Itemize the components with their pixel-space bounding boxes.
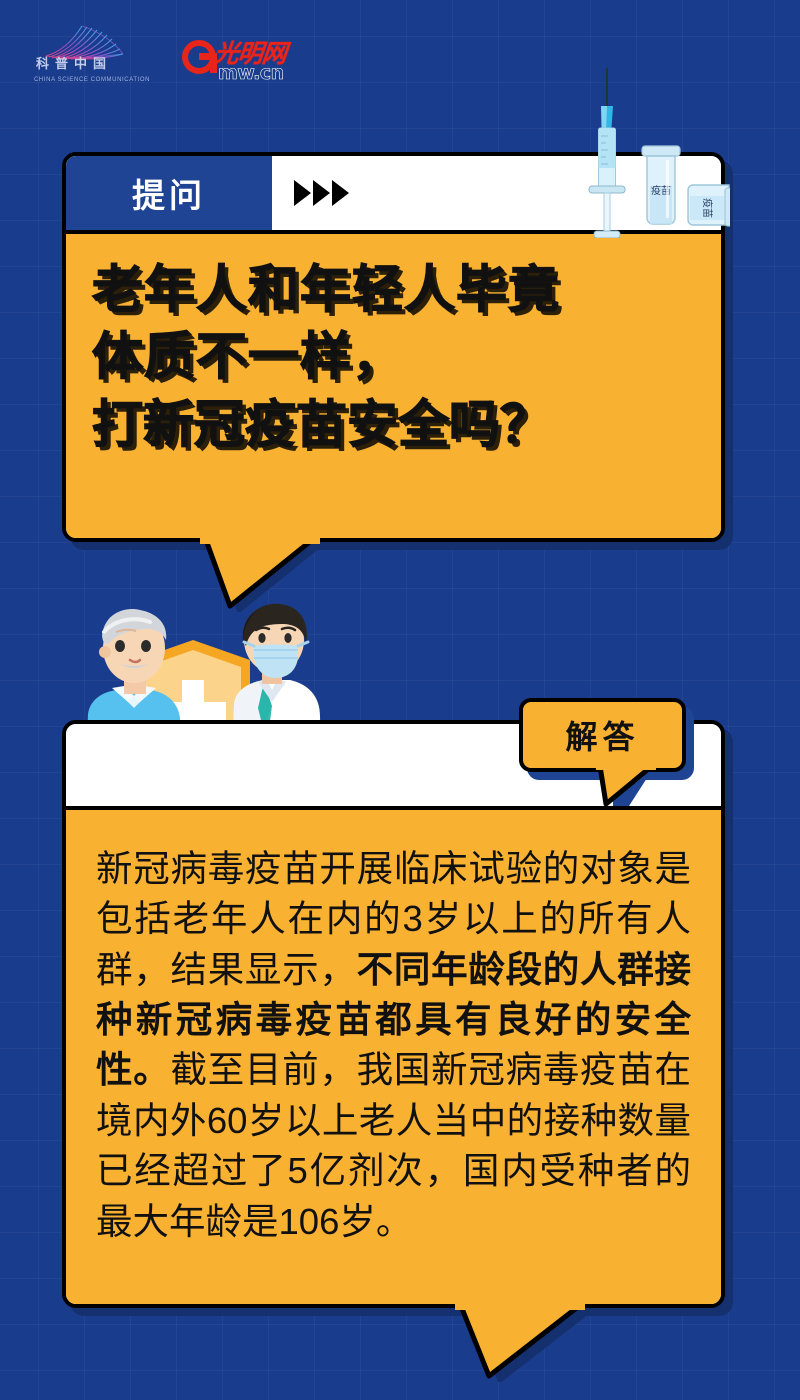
answer-text: 新冠病毒疫苗开展临床试验的对象是包括老年人在内的3岁以上的所有人群，结果显示，不… [96, 844, 691, 1247]
question-line-1: 老年人和年轻人毕竟 [92, 256, 695, 323]
vaccine-vial-lying: 疫苗 [688, 185, 730, 226]
question-tab-label: 提问 [132, 169, 206, 217]
triple-play-arrow-icon [272, 156, 349, 230]
answer-badge-tail [596, 766, 656, 808]
header-logo-bar: 科普中国 CHINA SCIENCE COMMUNICATION 光明网 mw.… [34, 14, 300, 84]
answer-card: 新冠病毒疫苗开展临床试验的对象是包括老年人在内的3岁以上的所有人群，结果显示，不… [62, 720, 725, 1308]
answer-bubble-tail [455, 1304, 585, 1382]
question-card-body: 老年人和年轻人毕竟 体质不一样， 打新冠疫苗安全吗？ [66, 234, 721, 542]
play-arrow-icon-3 [332, 180, 349, 206]
poster-canvas: 科普中国 CHINA SCIENCE COMMUNICATION 光明网 mw.… [0, 0, 800, 1400]
play-arrow-icon-2 [313, 180, 330, 206]
answer-card-body: 新冠病毒疫苗开展临床试验的对象是包括老年人在内的3岁以上的所有人群，结果显示，不… [66, 810, 721, 1308]
logo-kepu-zhongguo: 科普中国 CHINA SCIENCE COMMUNICATION [34, 18, 134, 84]
logo-kepu-en-label: CHINA SCIENCE COMMUNICATION [34, 77, 150, 83]
logo-gmw-en-label: mw.cn [218, 62, 284, 84]
question-tab: 提问 [66, 156, 272, 230]
answer-badge-label: 解答 [565, 712, 639, 758]
svg-text:疫苗: 疫苗 [701, 198, 714, 218]
question-line-2: 体质不一样， [92, 323, 695, 390]
answer-segment-3: 截至目前，我国新冠病毒疫苗在境内外60岁以上老人当中的接种数量已经超过了5亿剂次… [96, 1049, 691, 1241]
answer-badge: 解答 [519, 698, 686, 772]
vaccine-vial-standing: 疫苗 [642, 146, 680, 224]
syringe-and-vials-illustration: 疫苗 疫苗 [570, 68, 730, 238]
question-line-3: 打新冠疫苗安全吗？ [92, 391, 695, 458]
logo-kepu-cn-label: 科普中国 [36, 53, 112, 72]
logo-guangming-wang: 光明网 mw.cn [182, 36, 300, 84]
play-arrow-icon-1 [294, 180, 311, 206]
